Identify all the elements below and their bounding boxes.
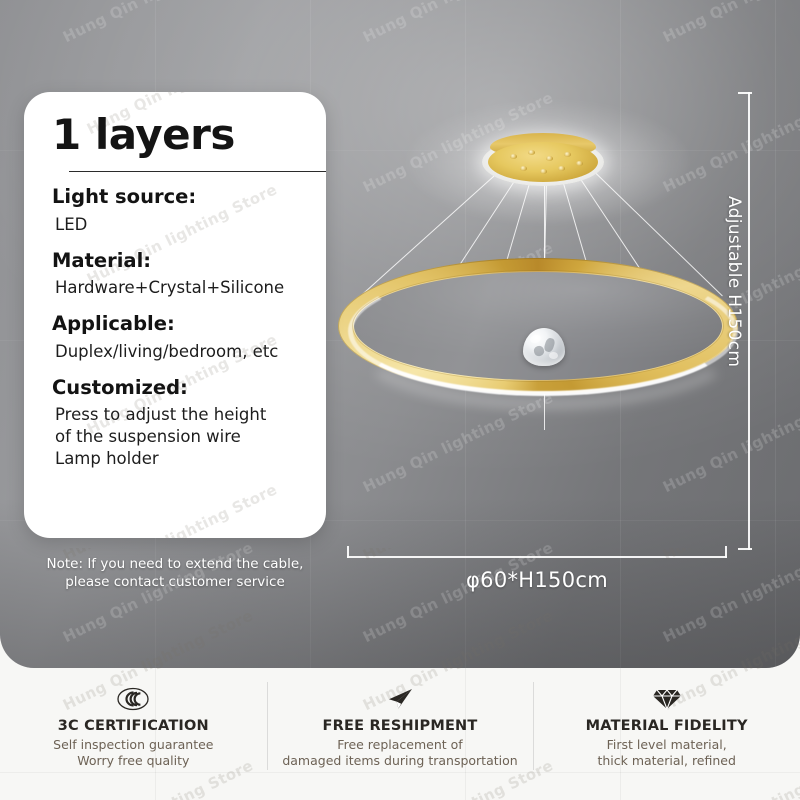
dimension-cap: [738, 548, 752, 550]
dimension-cap: [738, 92, 752, 94]
card-title: 1 layers: [52, 112, 304, 157]
feature-title: 3C CERTIFICATION: [0, 718, 267, 734]
3c-certification-icon: [0, 684, 267, 714]
spec-value-line: Lamp holder: [55, 448, 304, 470]
watermark-text: Hung Qin lighting Store: [60, 0, 256, 46]
canopy-fitting: [510, 154, 517, 159]
spec-label: Material:: [52, 249, 304, 272]
spec-light-source: Light source: LED: [52, 185, 304, 236]
cable-note: Note: If you need to extend the cable, p…: [24, 556, 326, 592]
crystal-pendant: [523, 328, 565, 366]
card-divider: [69, 171, 326, 172]
height-dimension-label: Adjustable H150cm: [724, 196, 744, 426]
width-dimension-line: [347, 556, 727, 558]
watermark-text: Hung Qin lighting Store: [360, 0, 556, 46]
spec-value-line: of the suspension wire: [55, 426, 304, 448]
pendant-lamp: [330, 100, 750, 440]
feature-subtitle-line: Self inspection guarantee: [0, 737, 267, 753]
feature-material-fidelity: MATERIAL FIDELITY First level material, …: [533, 668, 800, 800]
cable-note-line: Note: If you need to extend the cable,: [24, 556, 326, 574]
feature-subtitle: Self inspection guarantee Worry free qua…: [0, 737, 267, 769]
watermark-text: Hung Qin lighting Store: [360, 538, 556, 646]
crystal-facet: [549, 352, 558, 359]
feature-subtitle: First level material, thick material, re…: [533, 737, 800, 769]
diamond-icon: [533, 684, 800, 714]
spec-value: Hardware+Crystal+Silicone: [52, 277, 304, 299]
canopy-fitting: [546, 156, 553, 161]
canopy-fitting: [520, 166, 527, 171]
feature-subtitle-line: damaged items during transportation: [267, 753, 534, 769]
canopy-fitting: [528, 150, 535, 155]
paper-plane-icon: [267, 684, 534, 714]
feature-subtitle-line: First level material,: [533, 737, 800, 753]
spec-card-content: 1 layers Light source: LED Material: Har…: [24, 92, 326, 538]
spec-label: Light source:: [52, 185, 304, 208]
product-photo-stage: Hung Qin lighting StoreHung Qin lighting…: [0, 0, 800, 668]
spec-material: Material: Hardware+Crystal+Silicone: [52, 249, 304, 300]
feature-free-reshipment: FREE RESHIPMENT Free replacement of dama…: [267, 668, 534, 800]
feature-subtitle: Free replacement of damaged items during…: [267, 737, 534, 769]
spec-card: Hung Qin lighting StoreHung Qin lighting…: [24, 92, 326, 538]
watermark-text: Hung Qin lighting Store: [660, 538, 800, 646]
feature-title: MATERIAL FIDELITY: [533, 718, 800, 734]
led-ring: [338, 258, 738, 394]
dimension-cap: [347, 546, 349, 558]
dimension-cap: [725, 546, 727, 558]
feature-3c-certification: 3C CERTIFICATION Self inspection guarant…: [0, 668, 267, 800]
backdrop-gridline: [775, 0, 776, 668]
feature-subtitle-line: Free replacement of: [267, 737, 534, 753]
feature-subtitle-line: Worry free quality: [0, 753, 267, 769]
canopy-fitting: [576, 161, 583, 166]
width-dimension-label: φ60*H150cm: [347, 568, 727, 592]
canopy-fitting: [540, 169, 547, 174]
watermark-text: Hung Qin lighting Store: [660, 0, 800, 46]
feature-footer: Hung Qin lighting StoreHung Qin lighting…: [0, 668, 800, 800]
spec-applicable: Applicable: Duplex/living/bedroom, etc: [52, 312, 304, 363]
spec-value: LED: [52, 214, 304, 236]
spec-value: Duplex/living/bedroom, etc: [52, 341, 304, 363]
cable-note-line: please contact customer service: [24, 574, 326, 592]
feature-title: FREE RESHIPMENT: [267, 718, 534, 734]
canopy-fitting: [564, 152, 571, 157]
canopy-fitting: [558, 166, 565, 171]
height-dimension-line: [748, 92, 750, 550]
watermark-text: Hung Qin lighting Store: [60, 538, 256, 646]
feature-subtitle-line: thick material, refined: [533, 753, 800, 769]
spec-value: Press to adjust the height of the suspen…: [52, 404, 304, 470]
canopy-plate: [488, 142, 598, 182]
spec-label: Applicable:: [52, 312, 304, 335]
spec-value-line: Press to adjust the height: [55, 404, 304, 426]
spec-label: Customized:: [52, 376, 304, 399]
feature-list: 3C CERTIFICATION Self inspection guarant…: [0, 668, 800, 800]
spec-customized: Customized: Press to adjust the height o…: [52, 376, 304, 471]
product-infographic: Hung Qin lighting StoreHung Qin lighting…: [0, 0, 800, 800]
